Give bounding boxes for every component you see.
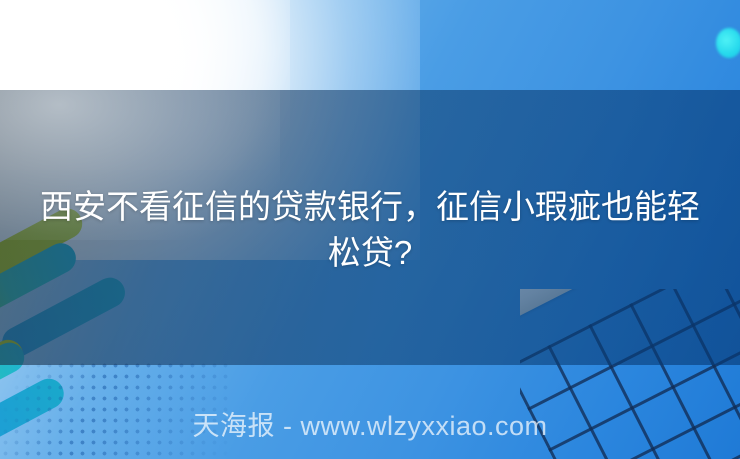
poster-banner: 西安不看征信的贷款银行，征信小瑕疵也能轻松贷? 天海报 - www.wlzyxx… [0,0,740,459]
site-watermark: 天海报 - www.wlzyxxiao.com [0,406,740,446]
cyan-blob-icon [716,28,740,58]
poster-title: 西安不看征信的贷款银行，征信小瑕疵也能轻松贷? [40,184,700,276]
